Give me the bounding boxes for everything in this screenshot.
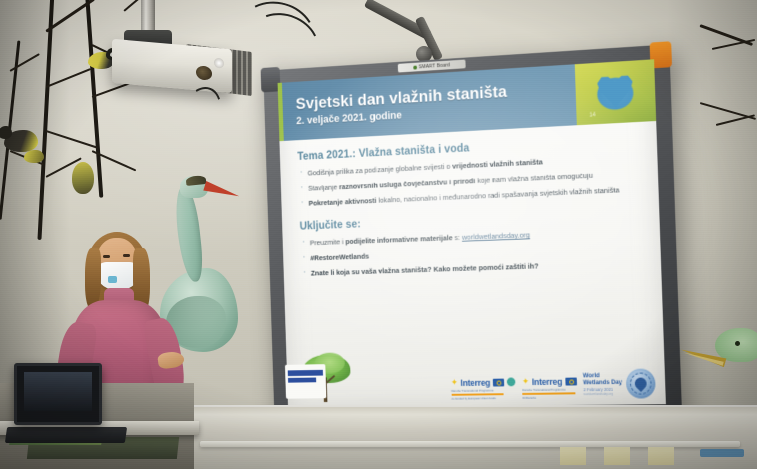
- presenter-eye-right: [123, 254, 130, 257]
- programme-circle-icon: [507, 378, 516, 387]
- bullet-emphasis: Znate li koja su vaša vlažna staništa? K…: [311, 261, 539, 277]
- bullet-text: Preuzmite i: [310, 238, 346, 248]
- brand-dot-icon: [413, 65, 417, 69]
- bullet-emphasis: raznovrsnih usluga čovječanstvu i prirod…: [339, 176, 475, 191]
- ledge-paper: [604, 447, 630, 465]
- bullet-text: Godišnja prilika za podizanje globalne s…: [307, 162, 452, 178]
- ledge-paper: [648, 447, 674, 465]
- eu-flag-icon: [493, 378, 504, 386]
- star-icon: ✦: [451, 379, 458, 388]
- heart-lake-icon: [596, 73, 634, 109]
- section2-bullet-list: Preuzmite i podijelite informativne mate…: [300, 227, 645, 280]
- interreg-logo-top: ✦ Interreg: [522, 376, 577, 387]
- monitor[interactable]: [14, 363, 102, 425]
- sticker-bar2: [288, 378, 316, 383]
- projected-slide: Svjetski dan vlažnih staništa 2. veljače…: [278, 59, 666, 408]
- interreg-logo-1: ✦ Interreg Danube Transnational Programm…: [451, 377, 516, 400]
- perched-bird-head: [0, 126, 12, 139]
- smart-board[interactable]: SMART Board Svjetski dan vlažnih staništ…: [263, 44, 682, 436]
- sticker-bar: [288, 370, 323, 376]
- star-icon: ✦: [522, 378, 529, 387]
- section1-bullet-list: Godišnja prilika za podizanje globalne s…: [298, 153, 643, 210]
- room-photo: SMART Board Svjetski dan vlažnih staništ…: [0, 0, 757, 469]
- slide-header-text: Svjetski dan vlažnih staništa 2. veljače…: [278, 82, 508, 128]
- bullet-text: Stavljanje: [308, 182, 339, 192]
- interreg-subtitle-2: DriDanube: [522, 395, 577, 400]
- smart-board-brand-label: SMART Board: [398, 60, 466, 73]
- mask-logo: [108, 276, 117, 283]
- board-info-sticker: [285, 364, 326, 399]
- bullet-text: s:: [452, 233, 462, 242]
- bullet-emphasis: podijelite informativne materijale: [345, 234, 453, 247]
- heron-eye: [735, 341, 740, 346]
- interreg-name: Interreg: [460, 378, 490, 388]
- board-frame: SMART Board Svjetski dan vlažnih staništ…: [263, 44, 682, 436]
- bullet-link[interactable]: worldwetlandsday.org: [462, 231, 530, 242]
- interreg-logo-top: ✦ Interreg: [451, 377, 516, 388]
- header-accent-bar: [278, 83, 284, 141]
- bullet-emphasis: vrijednosti vlažnih staništa: [452, 157, 543, 170]
- interreg-name: Interreg: [532, 377, 563, 387]
- wwd-emblem-icon: [626, 368, 656, 398]
- slide-body: Tema 2021.: Vlažna staništa i voda Godiš…: [279, 121, 661, 280]
- bullet-text: koje nam vlažna staništa omogućuju: [475, 171, 593, 185]
- section2: Uključite se: Preuzmite i podijelite inf…: [300, 208, 646, 280]
- eu-flag-icon: [565, 377, 577, 385]
- small-bird-icon: [72, 162, 94, 194]
- wwd-text: World Wetlands Day 2 February 2021 world…: [583, 372, 623, 397]
- keyboard[interactable]: [5, 427, 127, 443]
- bullet-emphasis: #RestoreWetlands: [310, 252, 369, 263]
- wetland-heart-image: [575, 59, 656, 125]
- interreg-subtitle: Danube Transnational Programme: [451, 388, 509, 393]
- interreg-logo-2: ✦ Interreg Danube Transnational Programm…: [522, 376, 577, 399]
- wwd-line4: worldwetlandsday.org: [584, 392, 623, 396]
- ledge-paper: [560, 447, 586, 465]
- wall-bird-icon: [24, 150, 44, 163]
- slide-number: 14: [589, 112, 596, 118]
- world-wetlands-day-logo: World Wetlands Day 2 February 2021 world…: [583, 368, 656, 399]
- brand-text: SMART Board: [419, 62, 451, 70]
- footer-logos: ✦ Interreg Danube Transnational Programm…: [451, 368, 656, 400]
- bullet-emphasis: Pokretanje aktivnosti: [308, 196, 376, 207]
- slide-footer: ✦ Interreg Danube Transnational Programm…: [286, 342, 666, 408]
- blue-tape-marker: [700, 449, 744, 457]
- interreg-subtitle: Danube Transnational Programme: [522, 387, 577, 392]
- projector-pole: [141, 0, 155, 34]
- face-mask: [98, 262, 138, 290]
- presenter-eye-left: [103, 255, 110, 258]
- wwd-line2: Wetlands Day: [583, 379, 622, 387]
- interreg-subtitle-2: co-funded by European Union funds: [451, 396, 509, 401]
